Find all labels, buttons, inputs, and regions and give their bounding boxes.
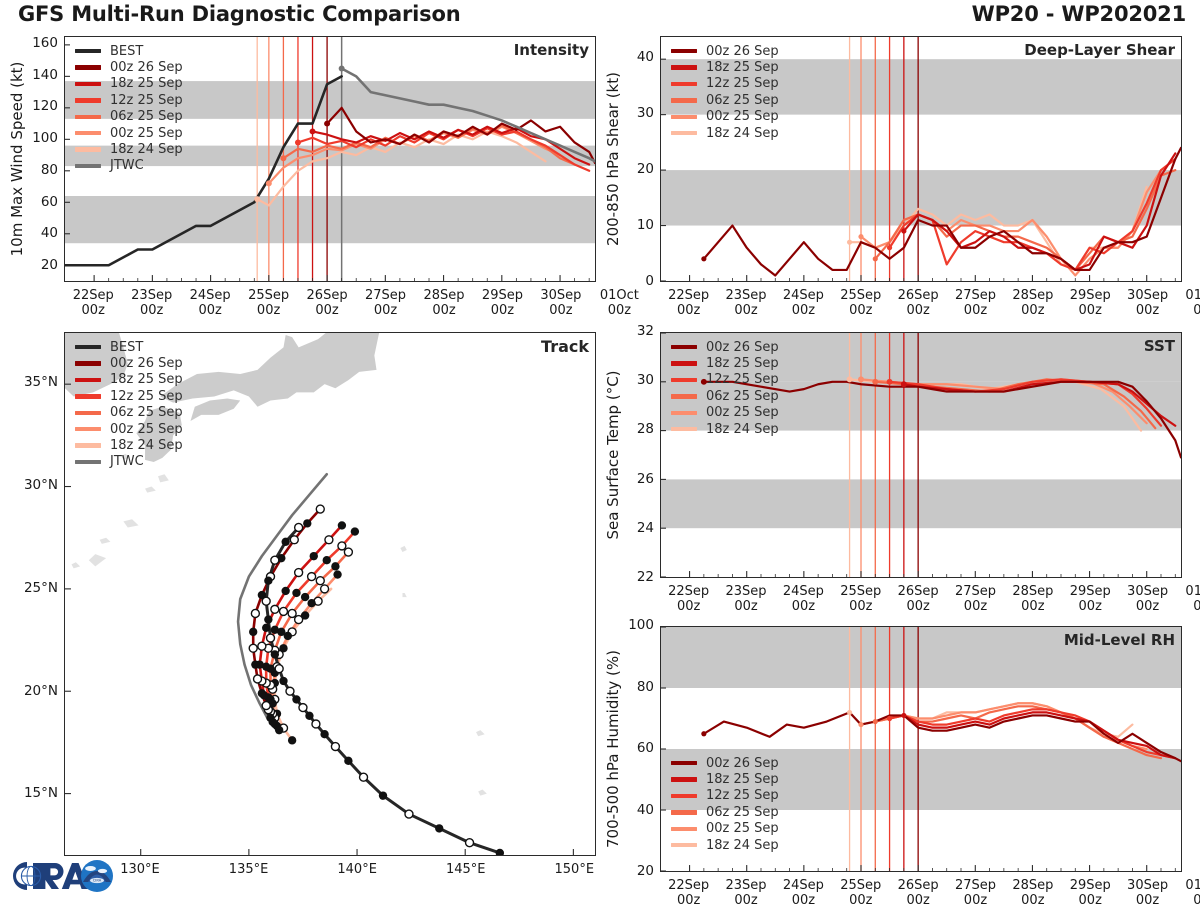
storm-id-title: WP20 - WP202021 (972, 2, 1186, 26)
track-marker-00z (251, 660, 259, 668)
legend-item: 18z 24 Sep (671, 837, 779, 853)
legend-item: 12z 25 Sep (75, 388, 183, 404)
legend-item: 18z 25 Sep (75, 372, 183, 388)
legend-item: 00z 25 Sep (75, 421, 183, 437)
x-axis-date-label: 01Oct (1171, 288, 1200, 303)
x-axis-tick-label: 01Oct00z (1171, 878, 1200, 908)
track-marker-00z (249, 628, 257, 636)
track-marker-00z (379, 791, 387, 799)
landmass (160, 333, 398, 407)
legend-item: 18z 24 Sep (75, 141, 183, 157)
track-marker-12z (286, 687, 294, 695)
intensity-panel: Intensity BEST00z 26 Sep18z 25 Sep12z 25… (64, 36, 596, 282)
y-axis-tick-label: 20 (610, 863, 654, 879)
track-marker-12z (338, 542, 346, 550)
shear-panel-title: Deep-Layer Shear (1024, 41, 1175, 59)
legend-swatch (671, 827, 697, 831)
legend-label: 00z 26 Sep (706, 757, 779, 770)
series-init-marker (887, 716, 892, 721)
map-y-axis-tick-label: 25°N (6, 580, 58, 596)
track-marker-00z (262, 624, 270, 632)
series-init-marker (701, 256, 706, 261)
legend-swatch (75, 361, 101, 365)
series-init-marker (873, 719, 878, 724)
series-init-marker (858, 376, 864, 382)
legend-label: 00z 25 Sep (706, 406, 779, 419)
landmass (476, 730, 485, 736)
legend-swatch (75, 131, 101, 135)
y-axis-label: 700-500 hPa Humidity (%) (604, 650, 622, 848)
legend-label: 12z 25 Sep (110, 94, 183, 107)
legend-label: 06z 25 Sep (110, 110, 183, 123)
y-axis-label: Sea Surface Temp (°C) (604, 370, 622, 539)
legend-swatch (75, 164, 101, 168)
track-legend: BEST00z 26 Sep18z 25 Sep12z 25 Sep06z 25… (75, 339, 183, 470)
shaded-band (65, 196, 595, 243)
track-marker-00z (264, 577, 272, 585)
legend-swatch (671, 378, 697, 382)
legend-label: 18z 24 Sep (706, 839, 779, 852)
map-x-axis-tick-label: 145°E (432, 862, 500, 877)
track-marker-00z (331, 562, 339, 570)
legend-label: JTWC (110, 455, 144, 468)
track-marker-12z (295, 569, 303, 577)
legend-item: 18z 24 Sep (671, 125, 779, 141)
legend-item: BEST (75, 339, 183, 355)
x-axis-date-label: 01Oct (1171, 584, 1200, 599)
legend-label: 00z 25 Sep (110, 423, 183, 436)
legend-swatch (75, 460, 101, 464)
track-panel-title: Track (541, 337, 589, 356)
legend-label: 00z 26 Sep (706, 45, 779, 58)
map-y-axis-tick-label: 35°N (6, 374, 58, 390)
track-marker-12z (405, 810, 413, 818)
legend-swatch (671, 65, 697, 69)
track-marker-00z (264, 615, 272, 623)
intensity-panel-title: Intensity (514, 41, 589, 59)
x-axis-tick-label: 01Oct00z (1171, 288, 1200, 318)
legend-swatch (75, 65, 101, 69)
legend-swatch (671, 777, 697, 781)
legend-swatch (75, 378, 101, 382)
legend-label: 00z 26 Sep (706, 341, 779, 354)
legend-swatch (75, 49, 101, 53)
legend-item: 00z 26 Sep (671, 755, 779, 771)
legend-item: 00z 25 Sep (671, 109, 779, 125)
legend-label: 18z 25 Sep (110, 77, 183, 90)
map-y-axis-tick-label: 15°N (6, 785, 58, 801)
page-title: GFS Multi-Run Diagnostic Comparison (18, 2, 460, 26)
legend-item: 18z 25 Sep (671, 771, 779, 787)
track-marker-00z (258, 689, 266, 697)
landmass (100, 538, 111, 544)
track-marker-00z (271, 626, 279, 634)
legend-swatch (671, 98, 697, 102)
track-marker-12z (331, 743, 339, 751)
legend-item: 18z 24 Sep (671, 421, 779, 437)
legend-item: 18z 25 Sep (671, 59, 779, 75)
series-init-marker (280, 155, 286, 161)
landmass (71, 562, 80, 568)
legend-label: 00z 25 Sep (706, 822, 779, 835)
track-marker-12z (251, 609, 259, 617)
track-marker-00z (305, 712, 313, 720)
legend-label: 18z 24 Sep (110, 439, 183, 452)
x-axis-tick-label: 01Oct00z (1171, 584, 1200, 614)
track-marker-12z (262, 597, 270, 605)
landmass (190, 399, 240, 422)
x-axis-tick-label: 01Oct00z (585, 288, 653, 318)
map-y-axis-tick-label: 20°N (6, 683, 58, 699)
track-marker-00z (271, 650, 279, 658)
series-init-marker (847, 240, 852, 245)
track-marker-12z (344, 548, 352, 556)
track-marker-12z (466, 839, 474, 847)
track-marker-12z (267, 634, 275, 642)
track-marker-12z (249, 644, 257, 652)
track-marker-00z (303, 519, 311, 527)
legend-swatch (671, 131, 697, 135)
legend-label: BEST (110, 45, 143, 58)
legend-item: BEST (75, 43, 183, 59)
track-marker-12z (299, 704, 307, 712)
map-x-axis-tick-label: 150°E (540, 862, 608, 877)
series-init-marker (858, 722, 863, 727)
svg-text:CIRA: CIRA (93, 879, 102, 883)
landmass (478, 789, 487, 795)
legend-swatch (75, 115, 101, 119)
track-marker-12z (360, 773, 368, 781)
track-marker-12z (295, 523, 303, 531)
series-init-marker (295, 139, 301, 145)
legend-label: 18z 24 Sep (706, 423, 779, 436)
track-marker-12z (295, 616, 303, 624)
series-init-marker (887, 379, 893, 385)
legend-label: 00z 25 Sep (110, 127, 183, 140)
legend-swatch (671, 810, 697, 814)
track-marker-12z (316, 577, 324, 585)
series-init-marker (887, 245, 892, 250)
legend-item: 06z 25 Sep (671, 388, 779, 404)
legend-label: 12z 25 Sep (110, 390, 183, 403)
legend-swatch (75, 98, 101, 102)
legend-label: 18z 25 Sep (706, 357, 779, 370)
sst-legend: 00z 26 Sep18z 25 Sep12z 25 Sep06z 25 Sep… (671, 339, 779, 437)
map-x-axis-tick-label: 140°E (323, 862, 391, 877)
series-init-marker (873, 256, 878, 261)
track-marker-00z (292, 589, 300, 597)
legend-label: 18z 25 Sep (110, 373, 183, 386)
x-axis-hour-label: 00z (585, 303, 653, 318)
track-marker-12z (271, 605, 279, 613)
legend-item: 00z 26 Sep (75, 59, 183, 75)
legend-swatch (671, 361, 697, 365)
track-marker-00z (281, 538, 289, 546)
track-marker-00z (338, 521, 346, 529)
legend-item: 12z 25 Sep (671, 788, 779, 804)
y-axis-tick-label: 160 (14, 35, 58, 51)
track-marker-00z (435, 824, 443, 832)
shear-panel: Deep-Layer Shear 00z 26 Sep18z 25 Sep12z… (660, 36, 1182, 282)
legend-item: 12z 25 Sep (671, 76, 779, 92)
track-marker-00z (344, 757, 352, 765)
legend-item: 18z 24 Sep (75, 437, 183, 453)
track-marker-00z (320, 730, 328, 738)
series-init-marker (847, 376, 853, 382)
legend-item: 00z 26 Sep (75, 355, 183, 371)
y-axis-tick-label: 100 (610, 617, 654, 633)
legend-label: 00z 25 Sep (706, 110, 779, 123)
legend-label: 18z 24 Sep (706, 127, 779, 140)
track-marker-00z (496, 849, 504, 855)
track-marker-12z (316, 505, 324, 513)
sst-panel-title: SST (1144, 337, 1175, 355)
legend-swatch (75, 411, 101, 415)
legend-label: 06z 25 Sep (706, 806, 779, 819)
landmass (89, 554, 106, 566)
legend-label: 00z 26 Sep (110, 357, 183, 370)
x-axis-date-label: 01Oct (1171, 878, 1200, 893)
track-marker-00z (281, 587, 289, 595)
legend-item: 00z 26 Sep (671, 339, 779, 355)
track-marker-12z (271, 556, 279, 564)
landmass (145, 487, 156, 493)
legend-label: 12z 25 Sep (706, 373, 779, 386)
legend-label: 18z 25 Sep (706, 61, 779, 74)
track-marker-12z (308, 573, 316, 581)
legend-swatch (671, 843, 697, 847)
legend-item: 00z 26 Sep (671, 43, 779, 59)
legend-swatch (671, 115, 697, 119)
legend-item: 12z 25 Sep (671, 372, 779, 388)
track-marker-12z (275, 665, 283, 673)
legend-swatch (671, 794, 697, 798)
y-axis-tick-label: 0 (610, 273, 654, 289)
track-marker-00z (279, 677, 287, 685)
legend-item: 12z 25 Sep (75, 92, 183, 108)
track-marker-12z (280, 607, 288, 615)
legend-item: JTWC (75, 454, 183, 470)
series-init-marker (872, 379, 878, 385)
x-axis-hour-label: 00z (1171, 599, 1200, 614)
track-marker-00z (292, 695, 300, 703)
legend-item: 00z 25 Sep (75, 125, 183, 141)
rh-panel: Mid-Level RH 00z 26 Sep18z 25 Sep12z 25 … (660, 626, 1182, 872)
track-marker-12z (290, 536, 298, 544)
x-axis-hour-label: 00z (1171, 893, 1200, 908)
legend-swatch (75, 394, 101, 398)
landmass (400, 546, 406, 552)
landmass (402, 593, 406, 597)
shear-legend: 00z 26 Sep18z 25 Sep12z 25 Sep06z 25 Sep… (671, 43, 779, 141)
legend-swatch (75, 443, 101, 447)
y-axis-tick-label: 20 (14, 257, 58, 273)
legend-swatch (671, 761, 697, 765)
legend-item: 06z 25 Sep (671, 92, 779, 108)
legend-swatch (75, 82, 101, 86)
legend-label: 18z 24 Sep (110, 143, 183, 156)
legend-swatch (671, 345, 697, 349)
cira-logo: CIRA (6, 856, 114, 896)
legend-swatch (671, 82, 697, 86)
shaded-band (661, 479, 1181, 528)
track-marker-00z (310, 552, 318, 560)
track-marker-00z (333, 570, 341, 578)
series-init-marker (339, 66, 345, 72)
track-marker-00z (288, 736, 296, 744)
y-axis-tick-label: 22 (610, 569, 654, 585)
track-marker-12z (262, 702, 270, 710)
legend-item: 06z 25 Sep (75, 109, 183, 125)
legend-label: 06z 25 Sep (706, 94, 779, 107)
series-init-marker (847, 710, 852, 715)
landmass (158, 474, 169, 482)
shaded-band (661, 170, 1181, 225)
track-marker-00z (307, 599, 315, 607)
track-marker-00z (266, 714, 274, 722)
legend-label: 12z 25 Sep (706, 789, 779, 802)
track-marker-12z (258, 642, 266, 650)
legend-item: JTWC (75, 158, 183, 174)
series-init-marker (701, 731, 706, 736)
track-panel: Track BEST00z 26 Sep18z 25 Sep12z 25 Sep… (64, 332, 596, 856)
series-init-marker (310, 128, 316, 134)
map-x-axis-tick-label: 130°E (106, 862, 174, 877)
series-init-marker (901, 229, 906, 234)
intensity-legend: BEST00z 26 Sep18z 25 Sep12z 25 Sep06z 25… (75, 43, 183, 174)
legend-swatch (75, 345, 101, 349)
track-marker-12z (325, 536, 333, 544)
legend-swatch (75, 427, 101, 431)
landmass (123, 519, 138, 527)
sst-panel: SST 00z 26 Sep18z 25 Sep12z 25 Sep06z 25… (660, 332, 1182, 578)
legend-item: 00z 25 Sep (671, 821, 779, 837)
track-marker-00z (301, 593, 309, 601)
legend-label: BEST (110, 341, 143, 354)
legend-item: 06z 25 Sep (671, 804, 779, 820)
y-axis-label: 10m Max Wind Speed (kt) (8, 62, 26, 257)
track-marker-12z (312, 720, 320, 728)
series-init-marker (901, 713, 906, 718)
track-marker-12z (321, 585, 329, 593)
series-init-marker (901, 381, 907, 387)
legend-swatch (671, 411, 697, 415)
x-axis-hour-label: 00z (1171, 303, 1200, 318)
series-init-marker (266, 180, 272, 186)
legend-swatch (671, 394, 697, 398)
map-y-axis-tick-label: 30°N (6, 477, 58, 493)
map-x-axis-tick-label: 135°E (215, 862, 283, 877)
series-init-marker (858, 234, 863, 239)
y-axis-label: 200-850 hPa Shear (kt) (604, 72, 622, 246)
legend-label: 06z 25 Sep (706, 390, 779, 403)
track-marker-12z (288, 609, 296, 617)
legend-label: 00z 26 Sep (110, 61, 183, 74)
legend-label: 12z 25 Sep (706, 77, 779, 90)
legend-item: 00z 25 Sep (671, 405, 779, 421)
series-init-marker (324, 121, 330, 127)
legend-label: 18z 25 Sep (706, 773, 779, 786)
x-axis-date-label: 01Oct (585, 288, 653, 303)
legend-item: 18z 25 Sep (75, 76, 183, 92)
legend-swatch (75, 147, 101, 151)
track-marker-00z (351, 527, 359, 535)
series-init-marker (254, 196, 260, 202)
legend-item: 18z 25 Sep (671, 355, 779, 371)
rh-legend: 00z 26 Sep18z 25 Sep12z 25 Sep06z 25 Sep… (671, 755, 779, 853)
track-marker-00z (323, 556, 331, 564)
legend-label: JTWC (110, 159, 144, 172)
rh-panel-title: Mid-Level RH (1064, 631, 1175, 649)
track-marker-12z (254, 675, 262, 683)
legend-swatch (671, 49, 697, 53)
legend-item: 06z 25 Sep (75, 405, 183, 421)
y-axis-tick-label: 32 (610, 323, 654, 339)
y-axis-tick-label: 40 (610, 49, 654, 65)
legend-swatch (671, 427, 697, 431)
legend-label: 06z 25 Sep (110, 406, 183, 419)
